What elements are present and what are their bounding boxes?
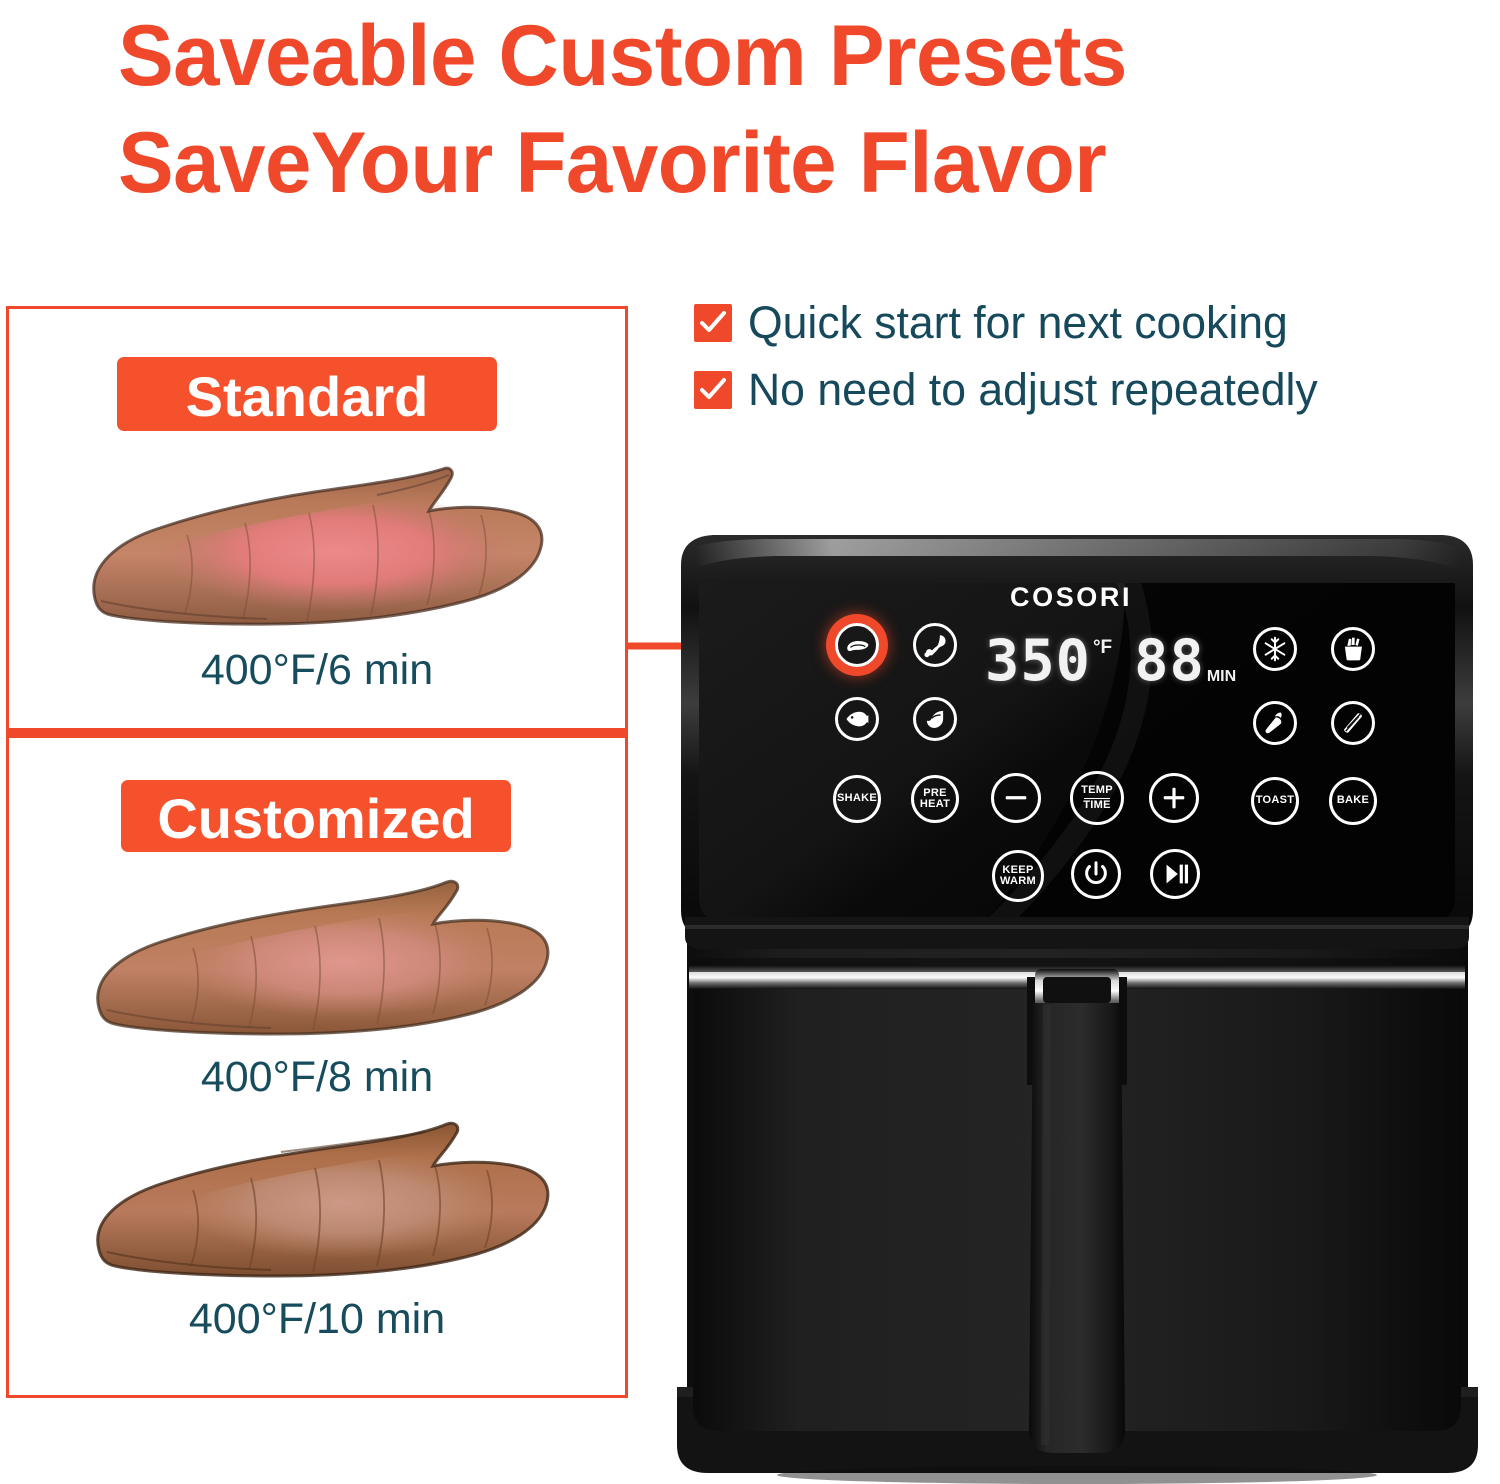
carrot-icon (1262, 710, 1288, 736)
bullet-label: No need to adjust repeatedly (748, 367, 1318, 412)
control-panel: COSORI 350 °F 88 MIN SHAKE PRE HEAT (655, 525, 1500, 1484)
time-unit: MIN (1207, 668, 1236, 686)
keepwarm-label-line1: KEEP (1002, 864, 1033, 876)
feature-bullet-list: Quick start for next cooking No need to … (694, 300, 1484, 434)
temptime-label-line1: TEMP (1081, 784, 1113, 796)
preheat-button[interactable]: PRE HEAT (911, 775, 959, 823)
plus-icon (1159, 783, 1189, 813)
customized-caption-1: 400°F/8 min (9, 1056, 625, 1099)
fries-icon (1340, 636, 1366, 662)
steak-image-welldone (81, 1108, 561, 1293)
air-fryer-product-image: COSORI 350 °F 88 MIN SHAKE PRE HEAT (655, 525, 1500, 1484)
temperature-unit: °F (1093, 637, 1112, 659)
page-title: Saveable Custom Presets SaveYour Favorit… (118, 4, 1360, 216)
bake-label: BAKE (1337, 795, 1369, 806)
toast-button[interactable]: TOAST (1251, 777, 1299, 825)
snowflake-icon (1262, 636, 1288, 662)
time-value: 88 (1134, 633, 1205, 690)
power-button[interactable] (1071, 849, 1121, 899)
list-item: No need to adjust repeatedly (694, 367, 1484, 412)
preheat-label-line2: HEAT (920, 798, 950, 810)
comparison-panel: Standard (6, 306, 628, 1398)
temperature-value: 350 (985, 633, 1091, 690)
customized-preset-box: Customized (6, 731, 628, 1398)
bullet-label: Quick start for next cooking (748, 300, 1288, 345)
fish-icon (844, 706, 870, 732)
increase-button[interactable] (1149, 773, 1199, 823)
list-item: Quick start for next cooking (694, 300, 1484, 345)
bacon-icon (1340, 710, 1366, 736)
keep-warm-button[interactable]: KEEP WARM (992, 850, 1044, 902)
customized-badge: Customized (121, 780, 511, 852)
toast-label: TOAST (1256, 795, 1295, 806)
shrimp-preset-button[interactable] (913, 697, 957, 741)
steak-preset-button[interactable] (835, 623, 879, 667)
temp-time-button[interactable]: TEMP TIME (1070, 771, 1124, 825)
steak-image-rare (77, 449, 557, 644)
shake-button[interactable]: SHAKE (833, 775, 881, 823)
headline-line-1: Saveable Custom Presets (118, 4, 1360, 109)
standard-caption: 400°F/6 min (9, 649, 625, 692)
drumstick-icon (922, 632, 948, 658)
power-icon (1081, 859, 1111, 889)
shrimp-icon (922, 706, 948, 732)
headline-line-2: SaveYour Favorite Flavor (118, 111, 1360, 216)
chicken-preset-button[interactable] (913, 623, 957, 667)
shake-label: SHAKE (837, 793, 877, 804)
checkbox-checked-icon (694, 371, 732, 409)
bake-button[interactable]: BAKE (1329, 777, 1377, 825)
temptime-label-line2: TIME (1083, 799, 1110, 811)
frozen-preset-button[interactable] (1253, 627, 1297, 671)
minus-icon (1001, 783, 1031, 813)
checkbox-checked-icon (694, 304, 732, 342)
customized-caption-2: 400°F/10 min (9, 1298, 625, 1341)
lcd-display: 350 °F 88 MIN (985, 633, 1236, 690)
standard-badge: Standard (117, 357, 497, 431)
bacon-preset-button[interactable] (1331, 701, 1375, 745)
preheat-label-line1: PRE (923, 787, 947, 799)
fish-preset-button[interactable] (835, 697, 879, 741)
vegetable-preset-button[interactable] (1253, 701, 1297, 745)
steak-image-medium (81, 866, 561, 1051)
keepwarm-label-line2: WARM (1000, 875, 1036, 887)
standard-preset-box: Standard (6, 306, 628, 731)
decrease-button[interactable] (991, 773, 1041, 823)
play-pause-icon (1160, 859, 1190, 889)
cosori-brand-logo: COSORI (1010, 582, 1132, 613)
steak-icon (844, 632, 870, 658)
start-pause-button[interactable] (1150, 849, 1200, 899)
fries-preset-button[interactable] (1331, 627, 1375, 671)
